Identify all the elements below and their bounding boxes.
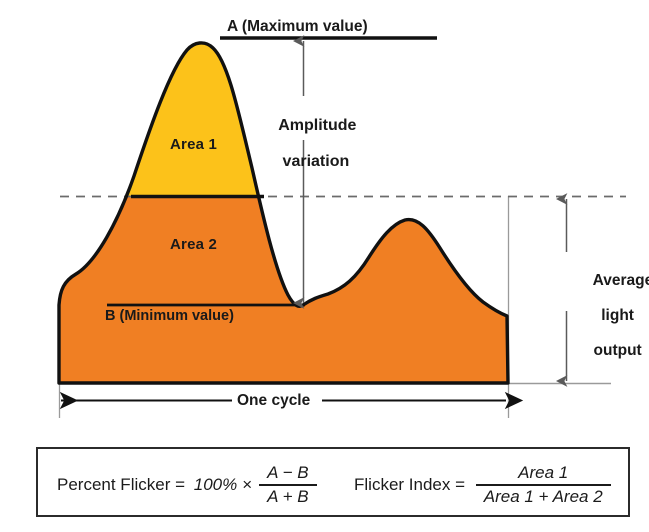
percent-flicker-fraction: A − B A + B [259, 463, 316, 507]
area-1-label: Area 1 [170, 137, 217, 154]
flicker-index-fraction: Area 1 Area 1 + Area 2 [476, 463, 611, 507]
percent-flicker-numerator: A − B [259, 463, 316, 484]
area2-fill [59, 43, 508, 383]
flicker-index-lead: Flicker Index = [354, 475, 470, 495]
minimum-value-label: B (Minimum value) [105, 308, 234, 324]
percent-flicker-formula: Percent Flicker = 100% × A − B A + B [57, 463, 317, 507]
amplitude-variation-label: Amplitude variation [261, 99, 353, 189]
flicker-index-numerator: Area 1 [510, 463, 576, 484]
amplitude-line-2: variation [283, 153, 350, 170]
formula-box: Percent Flicker = 100% × A − B A + B Fli… [36, 447, 630, 517]
maximum-value-label: A (Maximum value) [227, 18, 368, 35]
percent-flicker-denominator: A + B [259, 484, 316, 507]
percent-flicker-coefficient: 100% [194, 475, 237, 495]
flicker-index-denominator: Area 1 + Area 2 [476, 484, 611, 507]
average-light-output-label: Average light output [576, 255, 642, 377]
flicker-diagram-page: A (Maximum value) B (Minimum value) Ampl… [0, 0, 649, 532]
average-line-2: light [601, 307, 634, 324]
average-line-3: output [594, 342, 642, 359]
multiplication-sign: × [242, 475, 252, 495]
amplitude-line-1: Amplitude [278, 117, 356, 134]
area-2-label: Area 2 [170, 237, 217, 254]
one-cycle-label: One cycle [237, 392, 310, 409]
flicker-index-formula: Flicker Index = Area 1 Area 1 + Area 2 [354, 463, 611, 507]
average-line-1: Average [593, 272, 649, 289]
percent-flicker-lead: Percent Flicker = [57, 475, 190, 495]
